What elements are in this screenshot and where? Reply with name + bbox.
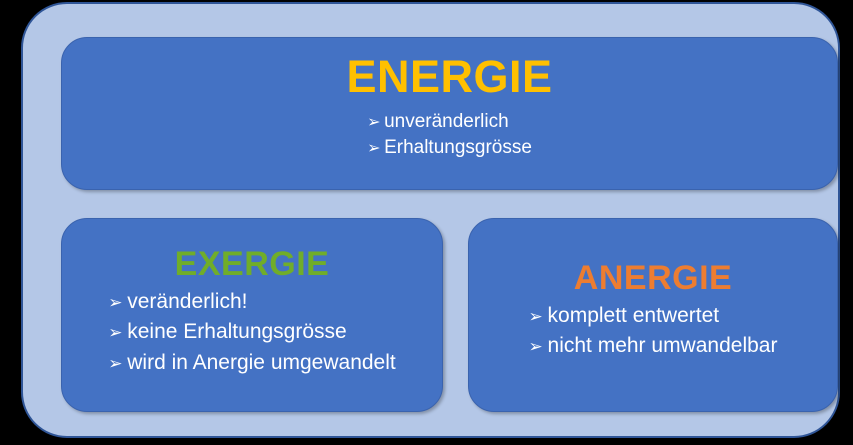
card-energie: ENERGIE ➢ unveränderlich ➢ Erhaltungsgrö…	[61, 37, 838, 190]
arrow-bullet-icon: ➢	[529, 335, 548, 360]
card-title-anergie: ANERGIE	[574, 261, 732, 295]
card-title-energie: ENERGIE	[346, 54, 552, 99]
arrow-bullet-icon: ➢	[367, 137, 384, 159]
arrow-bullet-icon: ➢	[529, 305, 548, 330]
arrow-bullet-icon: ➢	[108, 291, 127, 316]
card-anergie: ANERGIE ➢ komplett entwertet ➢ nicht meh…	[468, 218, 838, 412]
list-item: ➢ keine Erhaltungsgrösse	[108, 317, 346, 347]
list-item: ➢ komplett entwertet	[529, 301, 720, 331]
bullet-list-exergie: ➢ veränderlich! ➢ keine Erhaltungsgrösse…	[108, 287, 396, 378]
list-item: ➢ Erhaltungsgrösse	[367, 135, 532, 161]
list-item-label: wird in Anergie umgewandelt	[127, 348, 396, 378]
list-item-label: nicht mehr umwandelbar	[548, 331, 778, 361]
list-item-label: komplett entwertet	[548, 301, 720, 331]
list-item: ➢ nicht mehr umwandelbar	[529, 331, 778, 361]
bullet-list-energie: ➢ unveränderlich ➢ Erhaltungsgrösse	[367, 109, 532, 161]
list-item-label: Erhaltungsgrösse	[384, 135, 532, 161]
card-title-exergie: EXERGIE	[175, 247, 330, 281]
list-item: ➢ veränderlich!	[108, 287, 247, 317]
outer-container-frame: ENERGIE ➢ unveränderlich ➢ Erhaltungsgrö…	[21, 2, 840, 438]
list-item-label: veränderlich!	[127, 287, 247, 317]
energy-concept-diagram: ENERGIE ➢ unveränderlich ➢ Erhaltungsgrö…	[0, 0, 853, 445]
card-exergie: EXERGIE ➢ veränderlich! ➢ keine Erhaltun…	[61, 218, 443, 412]
bullet-list-anergie: ➢ komplett entwertet ➢ nicht mehr umwand…	[529, 301, 778, 362]
list-item-label: unveränderlich	[384, 109, 509, 135]
arrow-bullet-icon: ➢	[108, 352, 127, 377]
list-item-label: keine Erhaltungsgrösse	[127, 317, 346, 347]
arrow-bullet-icon: ➢	[367, 111, 384, 133]
arrow-bullet-icon: ➢	[108, 321, 127, 346]
list-item: ➢ unveränderlich	[367, 109, 509, 135]
list-item: ➢ wird in Anergie umgewandelt	[108, 348, 396, 378]
